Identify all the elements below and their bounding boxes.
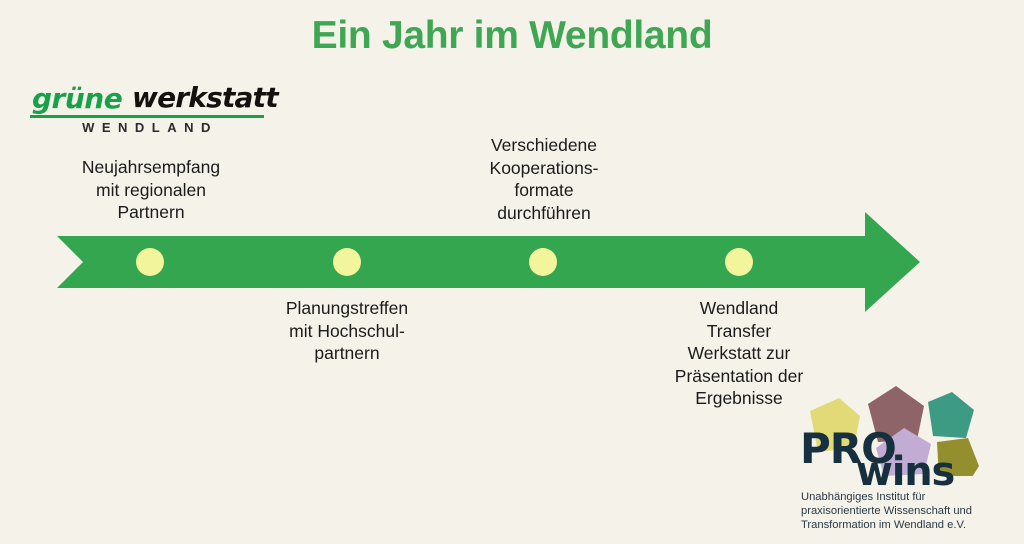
page-title: Ein Jahr im Wendland xyxy=(0,14,1024,58)
milestone-dot-2[interactable] xyxy=(333,248,361,276)
prowins-wordmark: PRO wins xyxy=(800,424,980,486)
milestone-label-1: Neujahrsempfang mit regionalen Partnern xyxy=(45,156,257,224)
infographic-canvas: Ein Jahr im Wendland grüne werkstatt WEN… xyxy=(0,0,1024,544)
prowins-word-wins: wins xyxy=(856,449,954,495)
gruene-werkstatt-wordmark: grüne werkstatt xyxy=(28,82,268,116)
logo-word-werkstatt: werkstatt xyxy=(132,81,278,114)
milestone-dot-3[interactable] xyxy=(529,248,557,276)
gruene-werkstatt-logo: grüne werkstatt WENDLAND xyxy=(28,82,268,138)
milestone-label-3: Verschiedene Kooperations- formate durch… xyxy=(455,134,633,224)
milestone-dot-4[interactable] xyxy=(725,248,753,276)
logo-word-gruene: grüne xyxy=(32,82,122,115)
prowins-logo: PRO wins Unabhängiges Institut für praxi… xyxy=(798,376,1008,532)
logo-subtitle-wendland: WENDLAND xyxy=(36,120,264,135)
logo-underline-divider xyxy=(30,115,264,118)
prowins-tagline: Unabhängiges Institut für praxisorientie… xyxy=(801,490,1009,533)
milestone-label-2: Planungstreffen mit Hochschul- partnern xyxy=(252,297,442,365)
milestone-dot-1[interactable] xyxy=(136,248,164,276)
